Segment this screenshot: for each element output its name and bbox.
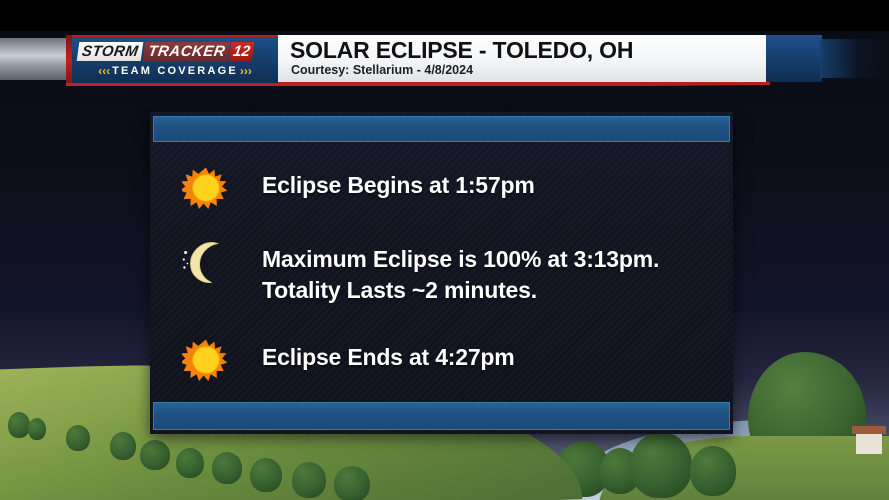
tree-ridge-6 xyxy=(176,448,204,478)
info-row-text: Eclipse Ends at 4:27pm xyxy=(262,334,515,373)
house-right xyxy=(856,432,882,454)
logo-channel-number: 12 xyxy=(229,42,254,61)
logo-wordmark-row: STORM TRACKER 12 xyxy=(77,42,255,61)
info-row: Maximum Eclipse is 100% at 3:13pm. Total… xyxy=(150,236,733,306)
tree-ridge-1 xyxy=(8,412,30,438)
logo-storm-text: STORM xyxy=(77,42,144,61)
chevron-left-icon: ‹‹‹ xyxy=(98,65,110,77)
logo-tracker-text: TRACKER xyxy=(143,42,231,61)
info-row-line: Totality Lasts ~2 minutes. xyxy=(262,275,659,306)
info-row-icon-cell xyxy=(150,334,262,384)
info-row-icon-cell xyxy=(150,236,262,286)
lower-third-banner: STORM TRACKER 12 ‹‹‹ TEAM COVERAGE ››› S… xyxy=(0,31,889,87)
info-row: Eclipse Begins at 1:57pm xyxy=(150,162,733,212)
team-coverage-text: TEAM COVERAGE xyxy=(112,65,238,77)
eclipse-info-panel: Eclipse Begins at 1:57pm xyxy=(150,112,733,434)
team-coverage-row: ‹‹‹ TEAM COVERAGE ››› xyxy=(78,65,272,77)
chevron-right-icon: ››› xyxy=(240,65,252,77)
eclipse-info-rows: Eclipse Begins at 1:57pm xyxy=(150,148,733,384)
banner-red-underline xyxy=(66,83,766,86)
tree-ridge-8 xyxy=(250,458,282,492)
info-row-text: Maximum Eclipse is 100% at 3:13pm. Total… xyxy=(262,236,659,306)
broadcast-graphic-screen: STORM TRACKER 12 ‹‹‹ TEAM COVERAGE ››› S… xyxy=(0,0,889,500)
letterbox-top xyxy=(0,0,889,31)
info-row-line: Maximum Eclipse is 100% at 3:13pm. xyxy=(262,244,659,275)
tree-ridge-10 xyxy=(334,466,370,500)
tree-ridge-9 xyxy=(292,462,326,498)
stormtracker-logo: STORM TRACKER 12 ‹‹‹ TEAM COVERAGE ››› xyxy=(72,35,278,85)
info-row-text: Eclipse Begins at 1:57pm xyxy=(262,162,535,201)
info-row-line: Eclipse Ends at 4:27pm xyxy=(262,342,515,373)
banner-subtitle: Courtesy: Stellarium - 4/8/2024 xyxy=(291,63,473,78)
banner-tail-block xyxy=(766,35,822,82)
sun-icon xyxy=(182,164,230,212)
tree-ridge-5 xyxy=(140,440,170,470)
banner-tail-fade xyxy=(820,39,889,78)
house-roof-right xyxy=(852,426,886,434)
sun-icon xyxy=(182,336,230,384)
info-row: Eclipse Ends at 4:27pm xyxy=(150,334,733,384)
banner-silver-stub xyxy=(0,38,68,80)
tree-mid-4 xyxy=(630,432,692,498)
tree-mid-5 xyxy=(690,446,736,496)
panel-bottom-bar xyxy=(153,402,730,430)
tree-ridge-3 xyxy=(66,425,90,451)
tree-ridge-2 xyxy=(28,418,46,440)
tree-ridge-7 xyxy=(212,452,242,484)
info-row-icon-cell xyxy=(150,162,262,212)
banner-title: SOLAR ECLIPSE - TOLEDO, OH xyxy=(290,37,633,63)
crescent-moon-icon xyxy=(182,238,230,286)
banner-title-block: SOLAR ECLIPSE - TOLEDO, OH Courtesy: Ste… xyxy=(278,35,770,85)
tree-ridge-4 xyxy=(110,432,136,460)
info-row-line: Eclipse Begins at 1:57pm xyxy=(262,170,535,201)
panel-top-bar xyxy=(153,116,730,142)
